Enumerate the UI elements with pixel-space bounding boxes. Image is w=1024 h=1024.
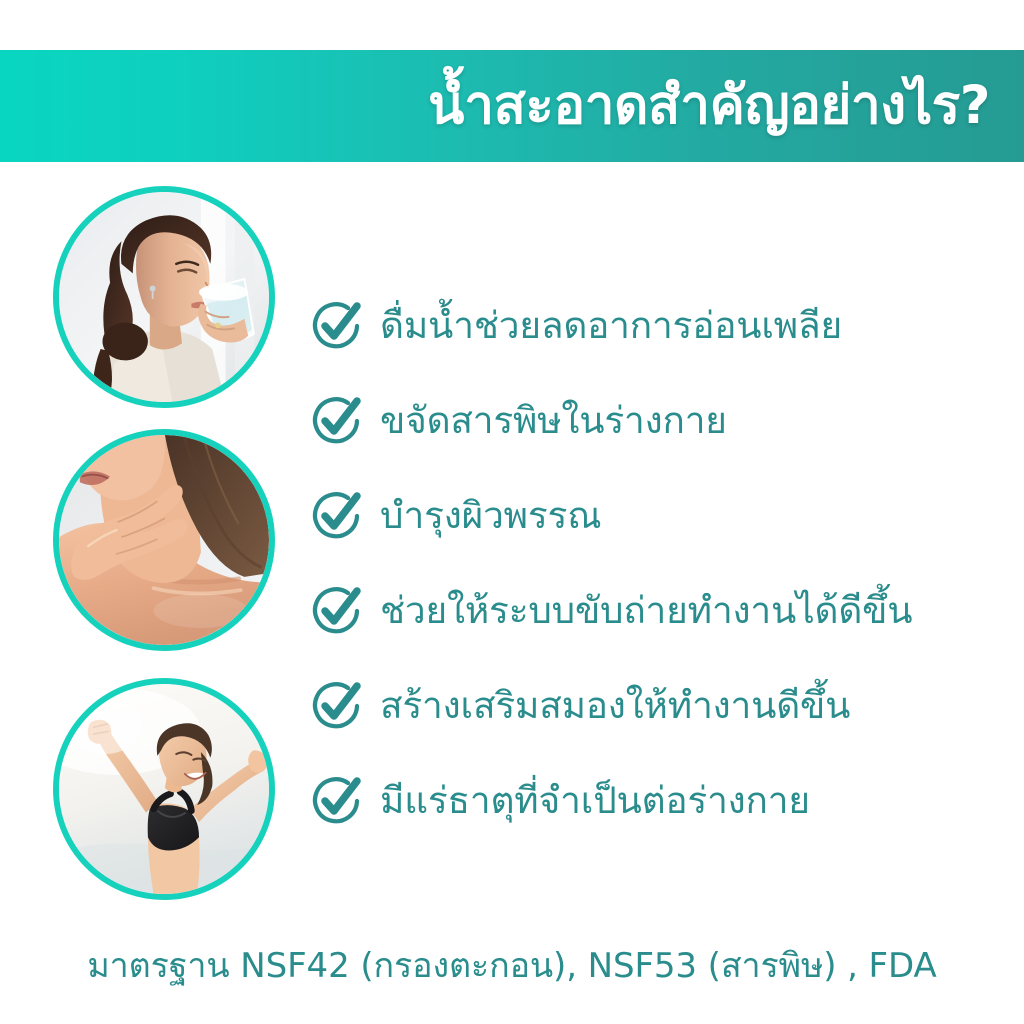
benefit-label: สร้างเสริมสมองให้ทำงานดีขึ้น: [380, 685, 850, 726]
benefit-label: ดื่มน้ำช่วยลดอาการอ่อนเพลีย: [380, 305, 842, 346]
photo-woman-arms-raised: [53, 678, 275, 900]
benefit-label: ขจัดสารพิษในร่างกาย: [380, 400, 727, 441]
skin-neck-closeup-illustration: [59, 435, 269, 645]
check-circle-icon: [310, 489, 364, 543]
photo-column: [53, 186, 279, 906]
benefit-item: ดื่มน้ำช่วยลดอาการอ่อนเพลีย: [310, 278, 1010, 373]
photo-skin-neck-closeup: [53, 429, 275, 651]
woman-arms-raised-illustration: [59, 684, 269, 894]
benefit-label: มีแร่ธาตุที่จำเป็นต่อร่างกาย: [380, 780, 810, 821]
header-banner: น้ำสะอาดสำคัญอย่างไร?: [0, 50, 1024, 162]
check-circle-icon: [310, 774, 364, 828]
benefits-list: ดื่มน้ำช่วยลดอาการอ่อนเพลีย ขจัดสารพิษใน…: [310, 278, 1010, 848]
check-circle-icon: [310, 679, 364, 733]
woman-drinking-water-illustration: [59, 192, 269, 402]
check-circle-icon: [310, 394, 364, 448]
benefit-item: ช่วยให้ระบบขับถ่ายทำงานได้ดีขึ้น: [310, 563, 1010, 658]
check-circle-icon: [310, 299, 364, 353]
check-circle-icon: [310, 584, 364, 638]
certification-note: มาตรฐาน NSF42 (กรองตะกอน), NSF53 (สารพิษ…: [0, 938, 1024, 992]
photo-frame: [59, 192, 269, 402]
benefit-item: ขจัดสารพิษในร่างกาย: [310, 373, 1010, 468]
benefit-item: สร้างเสริมสมองให้ทำงานดีขึ้น: [310, 658, 1010, 753]
benefit-item: มีแร่ธาตุที่จำเป็นต่อร่างกาย: [310, 753, 1010, 848]
page-title: น้ำสะอาดสำคัญอย่างไร?: [428, 78, 990, 134]
benefit-label: บำรุงผิวพรรณ: [380, 495, 601, 536]
photo-frame: [59, 684, 269, 894]
photo-woman-drinking-water: [53, 186, 275, 408]
benefit-label: ช่วยให้ระบบขับถ่ายทำงานได้ดีขึ้น: [380, 590, 912, 631]
infographic-poster: น้ำสะอาดสำคัญอย่างไร?: [0, 0, 1024, 1024]
benefit-item: บำรุงผิวพรรณ: [310, 468, 1010, 563]
photo-frame: [59, 435, 269, 645]
